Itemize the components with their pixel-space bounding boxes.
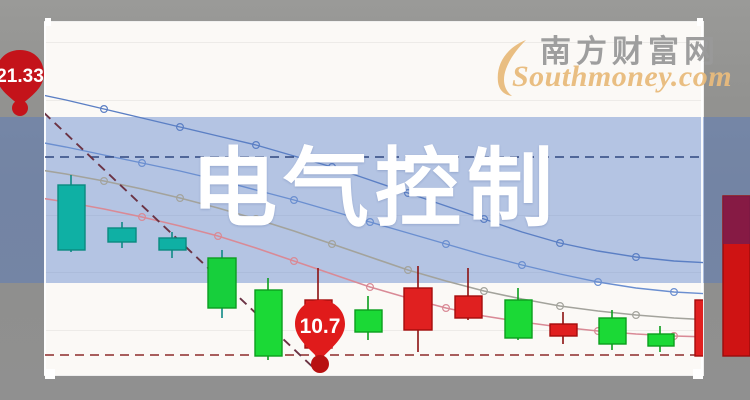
candle-11	[550, 312, 577, 344]
candle-4	[208, 250, 236, 318]
candle-14	[695, 282, 722, 364]
candle-8	[404, 266, 432, 352]
candle-13	[648, 326, 674, 352]
candle-1	[58, 175, 85, 252]
candle-9	[455, 268, 482, 320]
candle-series	[8, 92, 722, 372]
candle-12	[599, 310, 626, 350]
candle-7	[355, 296, 382, 340]
candle-0	[8, 92, 36, 265]
candle-overflow-right	[723, 196, 750, 356]
ma-line-blue-lower	[28, 140, 712, 294]
candlestick-chart	[0, 0, 750, 400]
ma-line-grey	[28, 168, 712, 320]
chart-plot-area	[0, 92, 750, 372]
candle-6	[305, 268, 332, 372]
chart-screenshot: 电气控制 南方财富网 Southmoney.com 21.33 10.7	[0, 0, 750, 400]
candle-2	[108, 222, 136, 248]
candle-5	[255, 278, 282, 360]
candle-3	[159, 232, 186, 258]
